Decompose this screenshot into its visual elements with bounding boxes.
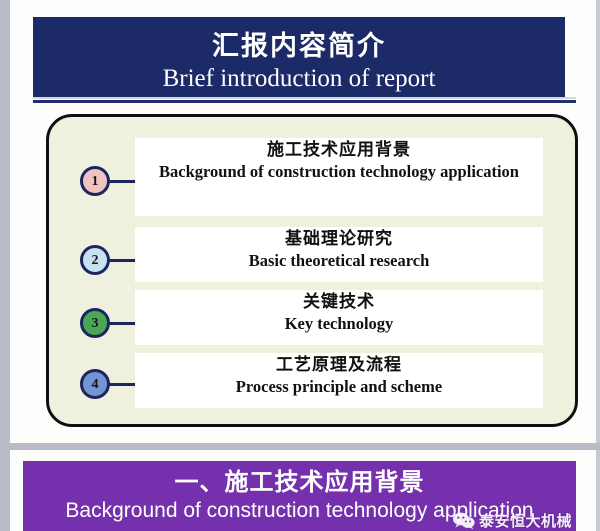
agenda-bullet-3-number: 3 xyxy=(92,316,99,331)
agenda-panel-4[interactable]: 工艺原理及流程 Process principle and scheme xyxy=(135,353,543,408)
agenda-panel-3[interactable]: 关键技术 Key technology xyxy=(135,290,543,345)
article-page: 汇报内容简介 Brief introduction of report 1 施工… xyxy=(0,0,600,531)
agenda-bullet-1-number: 1 xyxy=(92,174,99,189)
agenda-bullet-4-number: 4 xyxy=(92,377,99,392)
agenda-panel-4-chinese: 工艺原理及流程 xyxy=(141,355,537,377)
agenda-card: 1 施工技术应用背景 Background of construction te… xyxy=(46,114,578,427)
section-title-chinese: 一、施工技术应用背景 xyxy=(23,461,576,497)
slide-image-overview[interactable]: 汇报内容简介 Brief introduction of report 1 施工… xyxy=(10,0,596,443)
agenda-panel-1[interactable]: 施工技术应用背景 Background of construction tech… xyxy=(135,138,543,216)
title-divider xyxy=(33,97,576,104)
agenda-bullet-2-number: 2 xyxy=(92,253,99,268)
agenda-bullet-3: 3 xyxy=(80,308,110,338)
slide-image-section-header[interactable]: 一、施工技术应用背景 Background of construction te… xyxy=(10,450,596,531)
agenda-panel-3-chinese: 关键技术 xyxy=(141,292,537,314)
agenda-panel-1-english: Background of construction technology ap… xyxy=(141,162,537,183)
slide-title-chinese: 汇报内容简介 xyxy=(33,17,565,62)
slide-title-banner: 汇报内容简介 Brief introduction of report xyxy=(33,17,565,97)
watermark-account-name: 泰安恒大机械 xyxy=(479,510,572,531)
agenda-panel-3-english: Key technology xyxy=(141,314,537,335)
agenda-panel-1-chinese: 施工技术应用背景 xyxy=(141,140,537,162)
slide-separator xyxy=(0,443,600,450)
divider-line-dark xyxy=(33,100,576,103)
agenda-panel-2-chinese: 基础理论研究 xyxy=(141,229,537,251)
agenda-bullet-4: 4 xyxy=(80,369,110,399)
agenda-bullet-1: 1 xyxy=(80,166,110,196)
slide-title-english: Brief introduction of report xyxy=(33,62,565,93)
agenda-panel-2-english: Basic theoretical research xyxy=(141,251,537,272)
page-right-edge-strip xyxy=(596,0,600,531)
agenda-panel-2[interactable]: 基础理论研究 Basic theoretical research xyxy=(135,227,543,282)
wechat-icon xyxy=(453,512,475,530)
divider-line-light xyxy=(33,97,576,99)
page-left-edge-strip xyxy=(0,0,10,531)
agenda-panel-4-english: Process principle and scheme xyxy=(141,377,537,398)
agenda-bullet-2: 2 xyxy=(80,245,110,275)
wechat-watermark: 泰安恒大机械 泰安恒大 xyxy=(453,510,572,531)
section-title-banner: 一、施工技术应用背景 Background of construction te… xyxy=(23,461,576,531)
